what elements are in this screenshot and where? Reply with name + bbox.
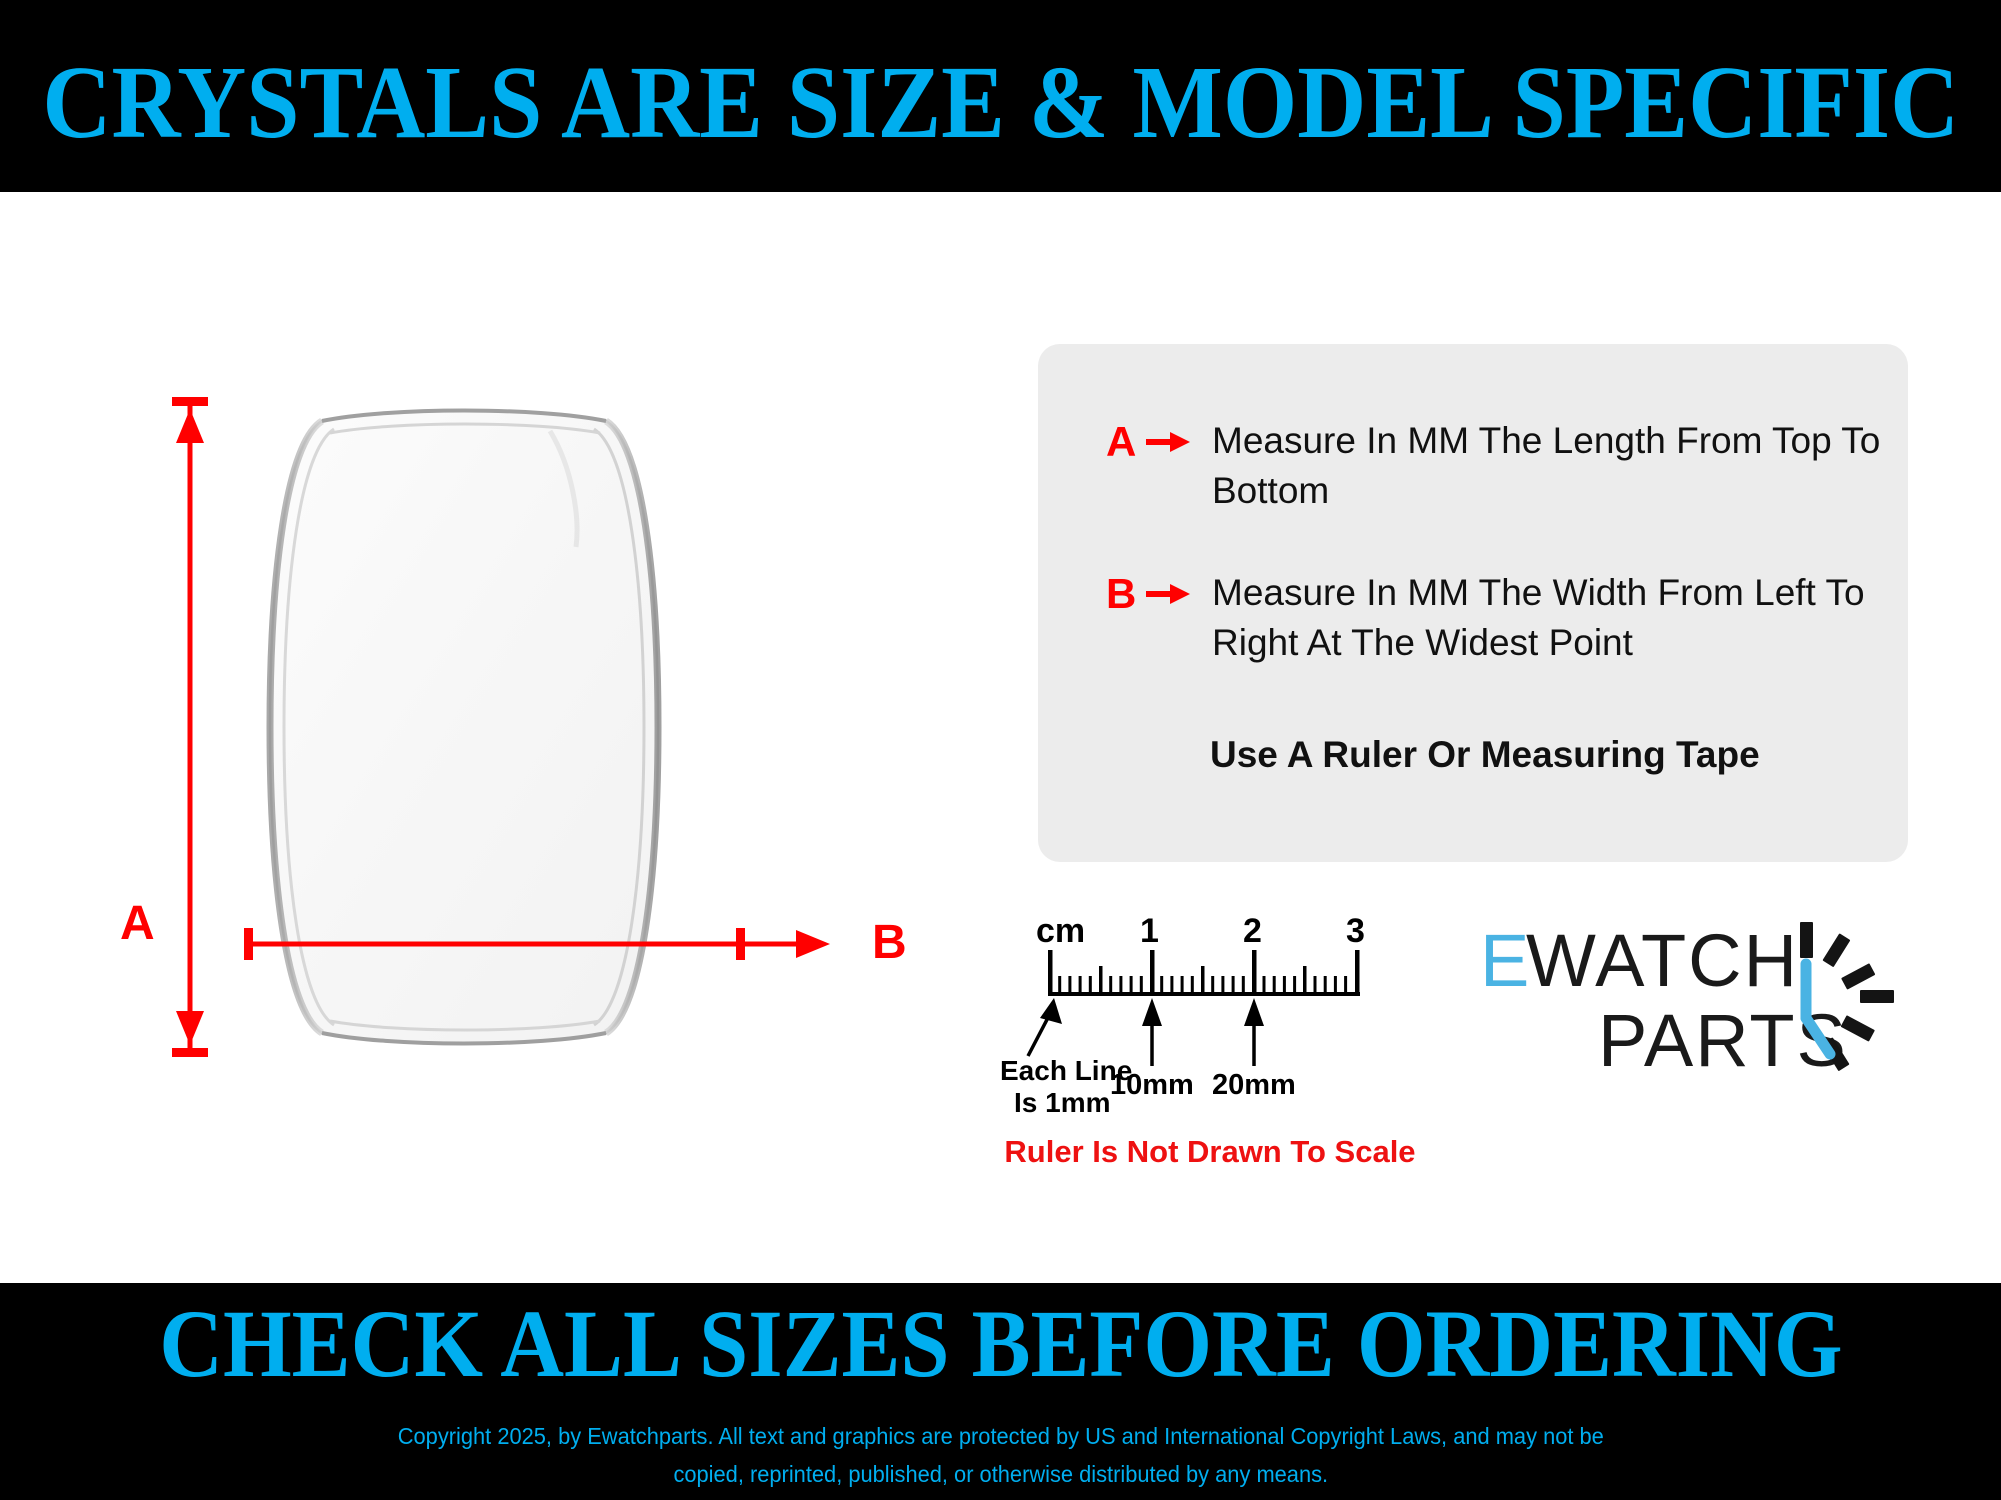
arrow-b-icon	[244, 914, 864, 974]
use-ruler-note: Use A Ruler Or Measuring Tape	[1210, 734, 1760, 776]
instruction-text-b: Measure In MM The Width From Left To Rig…	[1212, 568, 1892, 668]
instructions-panel: A Measure In MM The Length From Top To B…	[1038, 344, 1908, 862]
instruction-row-a: A Measure In MM The Length From Top To B…	[1106, 416, 1892, 516]
logo-letter-e: E	[1480, 919, 1531, 1002]
ruler-tick-label-1: 1	[1140, 912, 1159, 950]
ruler-tick-label-3: 3	[1346, 912, 1365, 950]
ruler-callout-10mm: 10mm	[1110, 1069, 1194, 1101]
logo-word-watch: WATCH	[1526, 919, 1799, 1002]
ewatchparts-logo: E WATCH PARTS	[1478, 908, 1898, 1088]
ruler-callout-each-line-2: Is 1mm	[1014, 1087, 1111, 1118]
bottom-banner-headline: CHECK ALL SIZES BEFORE ORDERING	[159, 1296, 1842, 1392]
right-arrow-icon	[1142, 416, 1194, 468]
instruction-marker-a: A	[1106, 416, 1142, 468]
bottom-banner: CHECK ALL SIZES BEFORE ORDERING Copyrigh…	[0, 1283, 2001, 1500]
top-banner: CRYSTALS ARE SIZE & MODEL SPECIFIC	[0, 0, 2001, 192]
copyright-block: Copyright 2025, by Ewatchparts. All text…	[366, 1418, 1636, 1494]
crystal-diagram: A B	[0, 192, 1000, 1283]
ruler-scale-caption: Ruler Is Not Drawn To Scale	[1000, 1134, 1420, 1170]
ruler-unit-label: cm	[1036, 912, 1085, 950]
right-arrow-icon	[1142, 568, 1194, 620]
top-banner-headline: CRYSTALS ARE SIZE & MODEL SPECIFIC	[42, 51, 1959, 155]
dimension-b-label: B	[872, 919, 907, 967]
logo-icon: E WATCH PARTS	[1478, 908, 1898, 1088]
dimension-arrow-vertical	[160, 397, 220, 1057]
dimension-arrow-horizontal	[244, 914, 864, 974]
ruler-callout-20mm: 20mm	[1212, 1069, 1296, 1101]
ruler-tick-label-2: 2	[1243, 912, 1262, 950]
copyright-line-1: Copyright 2025, by Ewatchparts. All text…	[397, 1418, 1603, 1456]
ruler-diagram: cm 1 2 3	[1000, 898, 1420, 1198]
crystal-sizing-infographic: CRYSTALS ARE SIZE & MODEL SPECIFIC	[0, 0, 2001, 1500]
arrow-a-icon	[160, 397, 220, 1057]
instruction-text-a: Measure In MM The Length From Top To Bot…	[1212, 416, 1892, 516]
instruction-marker-b: B	[1106, 568, 1142, 620]
dimension-a-label: A	[120, 900, 155, 948]
instruction-row-b: B Measure In MM The Width From Left To R…	[1106, 568, 1892, 668]
copyright-line-2: copied, reprinted, published, or otherwi…	[397, 1456, 1603, 1494]
ruler-icon: cm 1 2 3	[1000, 898, 1420, 1130]
